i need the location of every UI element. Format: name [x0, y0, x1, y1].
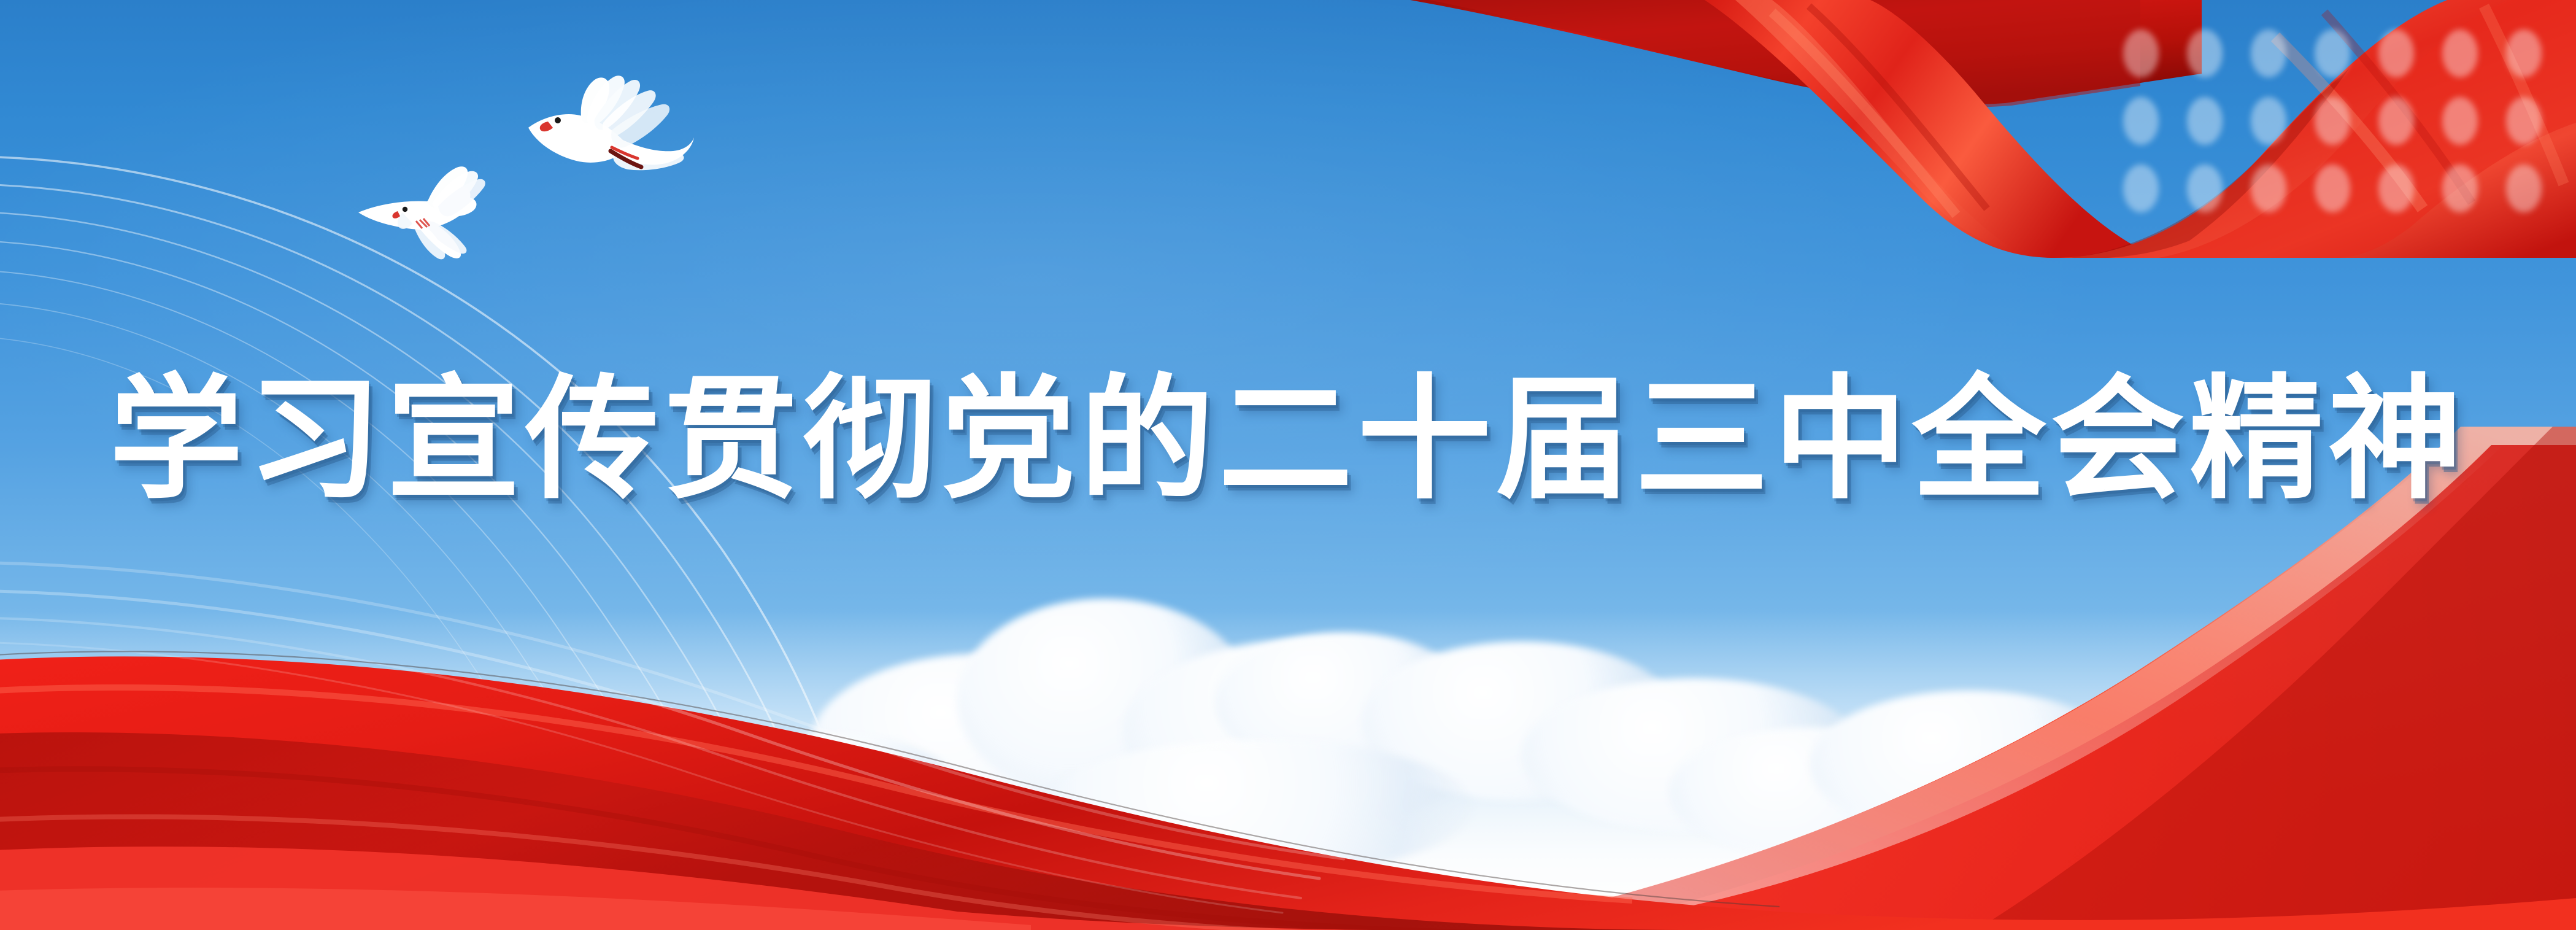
light-dot	[2251, 29, 2286, 77]
peace-dove-right	[489, 74, 701, 196]
light-dot	[2251, 97, 2286, 145]
light-dot	[2378, 29, 2414, 77]
light-dot	[2506, 97, 2542, 145]
light-dot	[2315, 29, 2350, 77]
light-dot	[2251, 165, 2286, 212]
light-dot	[2187, 165, 2223, 212]
light-dot	[2187, 97, 2223, 145]
red-silk-waves	[0, 427, 2576, 930]
light-dot	[2378, 97, 2414, 145]
light-dot	[2123, 165, 2159, 212]
light-dot	[2187, 29, 2223, 77]
light-dot-grid	[2110, 0, 2576, 258]
light-dot	[2506, 165, 2542, 212]
light-dot	[2506, 29, 2542, 77]
light-dot	[2442, 165, 2478, 212]
light-dot	[2378, 165, 2414, 212]
light-dot	[2315, 165, 2350, 212]
light-dot	[2315, 97, 2350, 145]
light-dot	[2442, 29, 2478, 77]
light-dot	[2442, 97, 2478, 145]
light-dot	[2123, 29, 2159, 77]
light-dot	[2123, 97, 2159, 145]
propaganda-banner: 学习宣传贯彻党的二十届三中全会精神	[0, 0, 2576, 930]
